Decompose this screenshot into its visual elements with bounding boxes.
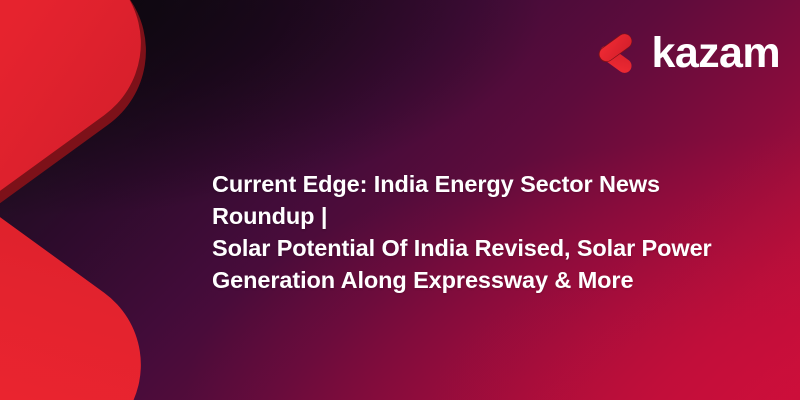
article-headline: Current Edge: India Energy Sector News R… [212,168,757,296]
kazam-chevron-icon [596,30,643,77]
headline-line-1: Current Edge: India Energy Sector News R… [212,171,660,229]
headline-line-3: Generation Along Expressway & More [212,267,633,293]
brand-logo-lockup[interactable]: kazam [596,30,780,77]
brand-wordmark: kazam [652,32,780,75]
headline-line-2: Solar Potential Of India Revised, Solar … [212,235,712,261]
article-hero-banner: kazam Current Edge: India Energy Sector … [0,0,800,400]
